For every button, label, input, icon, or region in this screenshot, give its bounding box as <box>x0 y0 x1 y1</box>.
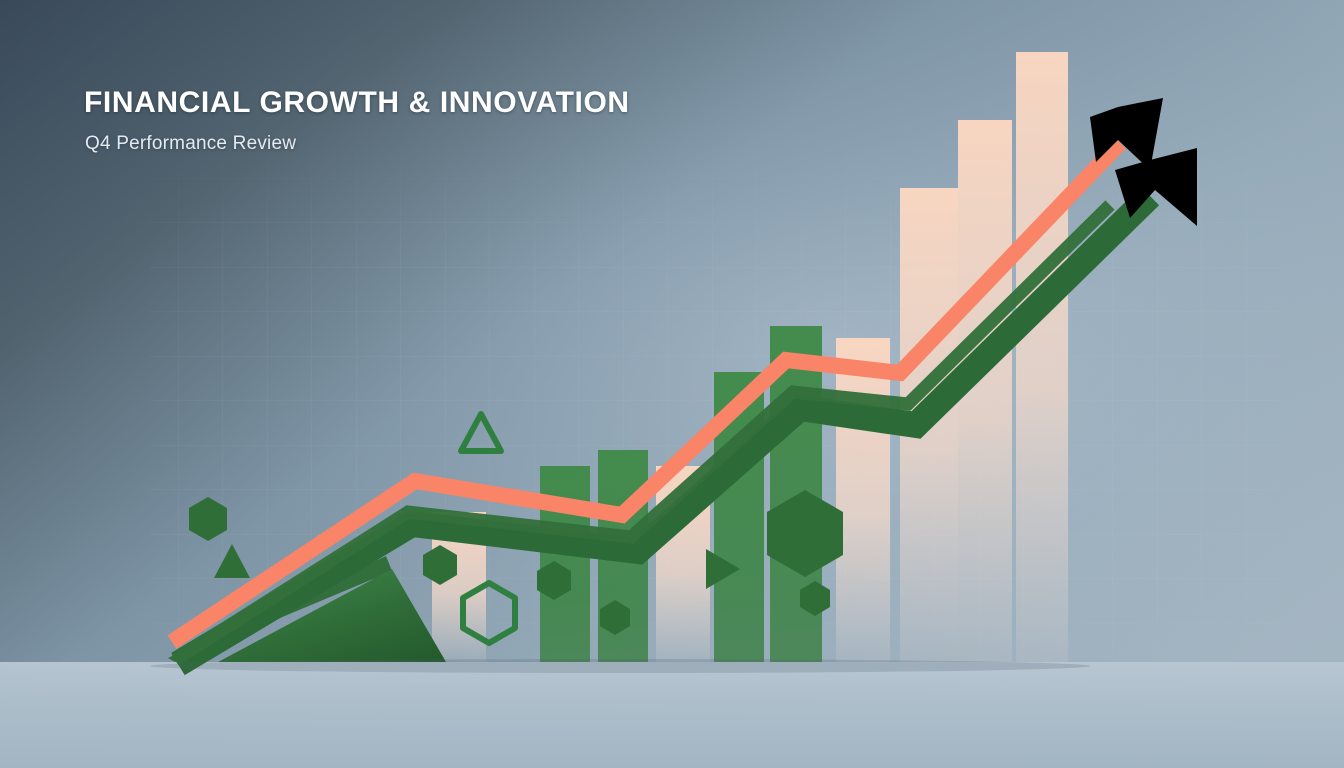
bar-B7[interactable] <box>836 338 890 662</box>
chart-scene <box>0 0 1344 768</box>
bar-B10[interactable] <box>1016 52 1068 662</box>
poster-canvas: FINANCIAL GROWTH & INNOVATION Q4 Perform… <box>0 0 1344 768</box>
contact-shadow <box>150 659 1090 673</box>
floor-plane <box>0 662 1344 768</box>
